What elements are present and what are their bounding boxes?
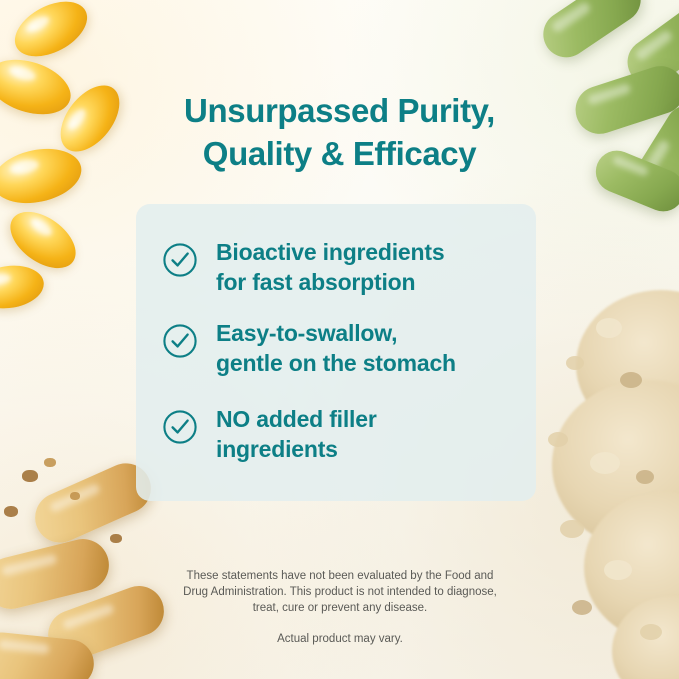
product-variance-note: Actual product may vary. [130, 633, 550, 645]
claim-text: NO added filler ingredients [216, 405, 377, 465]
page-title: Unsurpassed Purity, Quality & Efficacy [0, 90, 679, 176]
claims-card: Bioactive ingredients for fast absorptio… [136, 204, 536, 501]
claim-text: Bioactive ingredients for fast absorptio… [216, 238, 444, 298]
headline-line-1: Unsurpassed Purity, [184, 92, 495, 129]
fda-disclaimer: These statements have not been evaluated… [130, 568, 550, 617]
check-circle-icon [162, 242, 198, 278]
claim-text: Easy-to-swallow, gentle on the stomach [216, 319, 456, 379]
product-infographic: Unsurpassed Purity, Quality & Efficacy B… [0, 0, 679, 679]
claim-item: NO added filler ingredients [162, 405, 377, 465]
check-circle-icon [162, 323, 198, 359]
claim-item: Easy-to-swallow, gentle on the stomach [162, 319, 456, 379]
claim-item: Bioactive ingredients for fast absorptio… [162, 238, 444, 298]
check-circle-icon [162, 409, 198, 445]
headline-line-2: Quality & Efficacy [0, 133, 679, 176]
